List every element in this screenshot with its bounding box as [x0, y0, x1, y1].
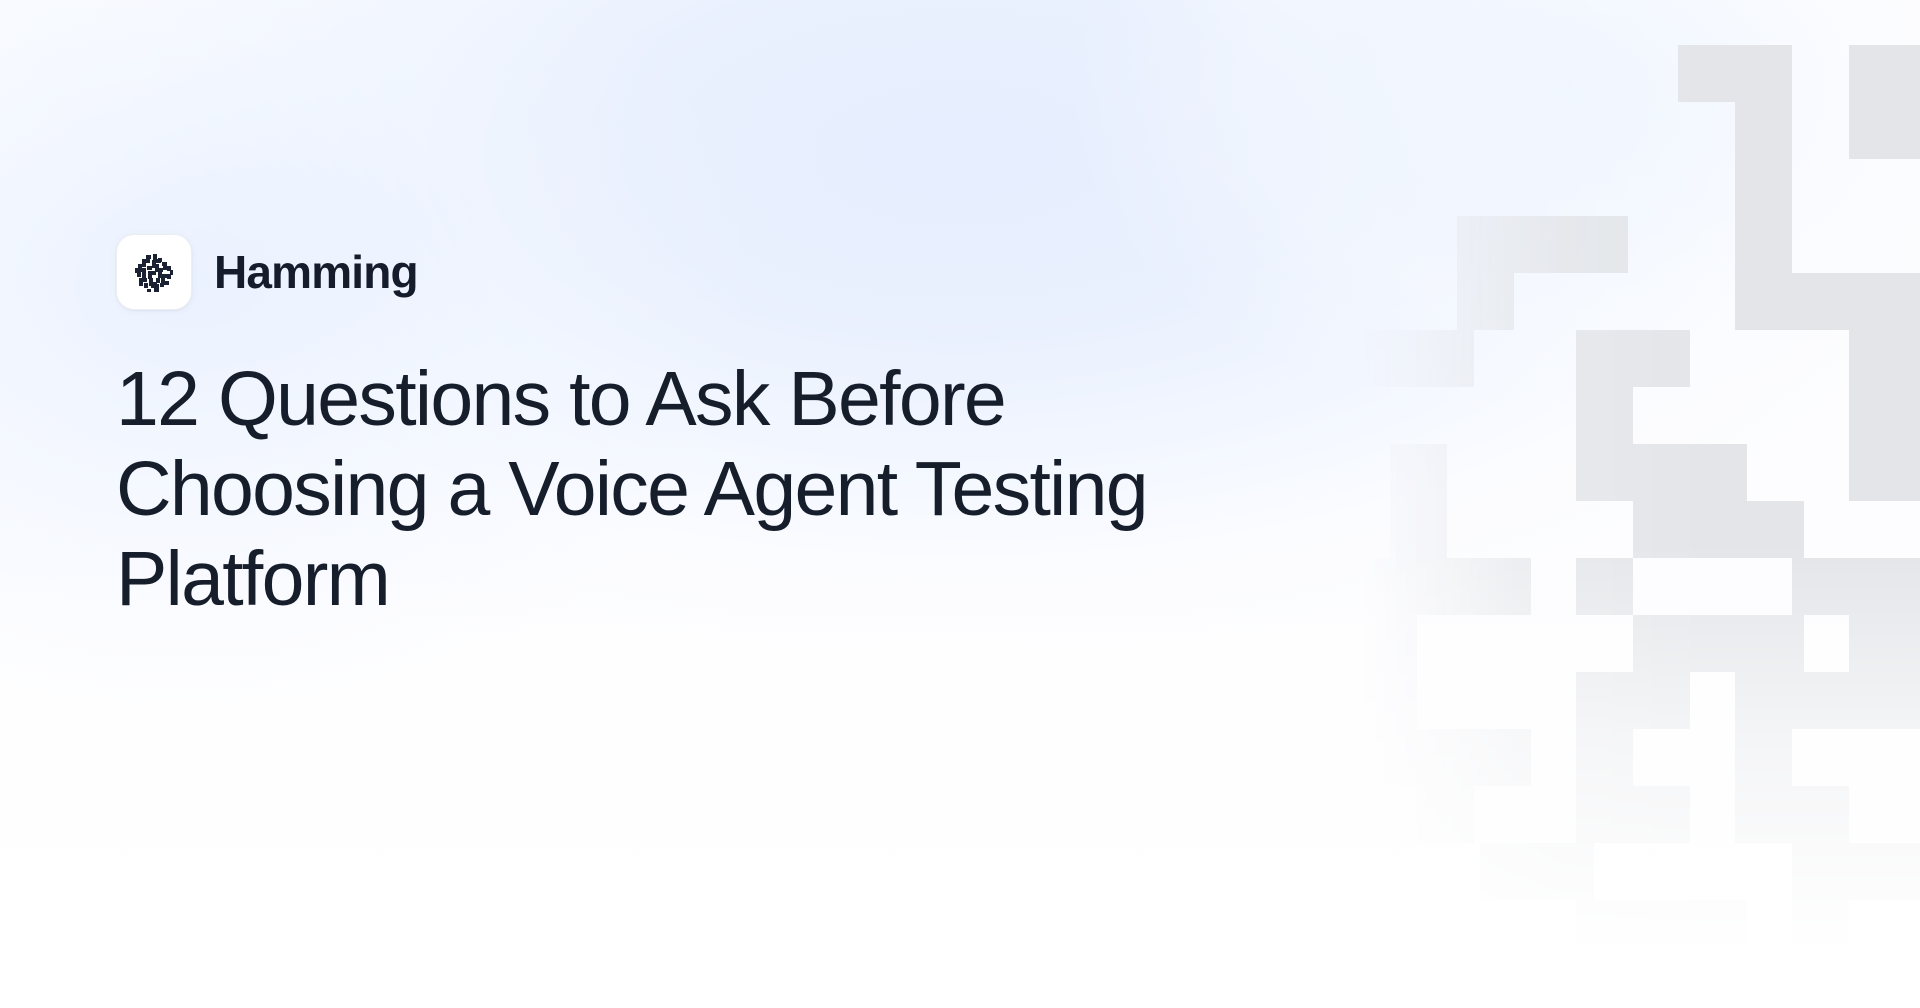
- share-card: Hamming 12 Questions to Ask Before Choos…: [0, 0, 1920, 1008]
- hamming-maze-logo-icon: [131, 249, 177, 295]
- content-column: Hamming 12 Questions to Ask Before Choos…: [116, 0, 1296, 1008]
- brand-lockup: Hamming: [116, 234, 1296, 310]
- brand-name: Hamming: [214, 249, 418, 295]
- brand-logo-badge: [116, 234, 192, 310]
- page-title: 12 Questions to Ask Before Choosing a Vo…: [116, 354, 1246, 624]
